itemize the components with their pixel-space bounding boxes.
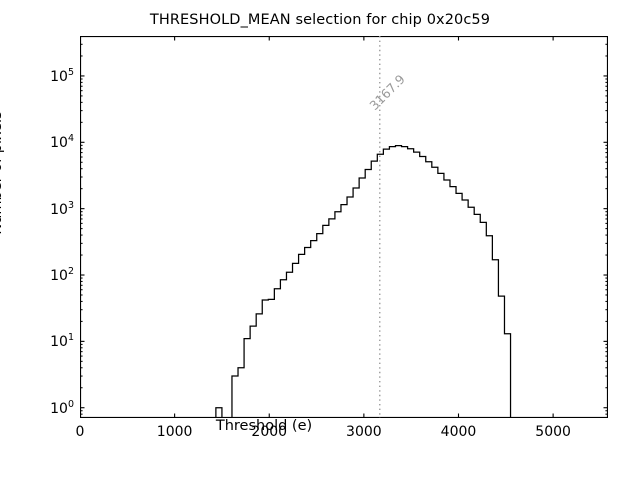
y-tick-label: 105 (36, 67, 74, 85)
page-title: THRESHOLD_MEAN selection for chip 0x20c5… (0, 12, 640, 28)
axes-frame (81, 37, 608, 418)
plot-area: 3167.9 010002000300040005000100101102103… (80, 36, 608, 418)
matplotlib-figure: THRESHOLD_MEAN selection for chip 0x20c5… (0, 0, 640, 480)
y-tick-label: 101 (36, 333, 74, 351)
y-tick-label: 100 (36, 399, 74, 417)
y-tick-label: 103 (36, 200, 74, 218)
x-tick-label: 5000 (535, 424, 571, 440)
histogram-step-outline (216, 146, 511, 418)
x-axis-label: Threshold (e) (0, 418, 528, 434)
y-axis-label: Number of pixels (0, 0, 5, 353)
histogram-plot (80, 36, 608, 418)
axis-ticks (80, 36, 608, 418)
y-tick-label: 102 (36, 266, 74, 284)
y-tick-label: 104 (36, 133, 74, 151)
